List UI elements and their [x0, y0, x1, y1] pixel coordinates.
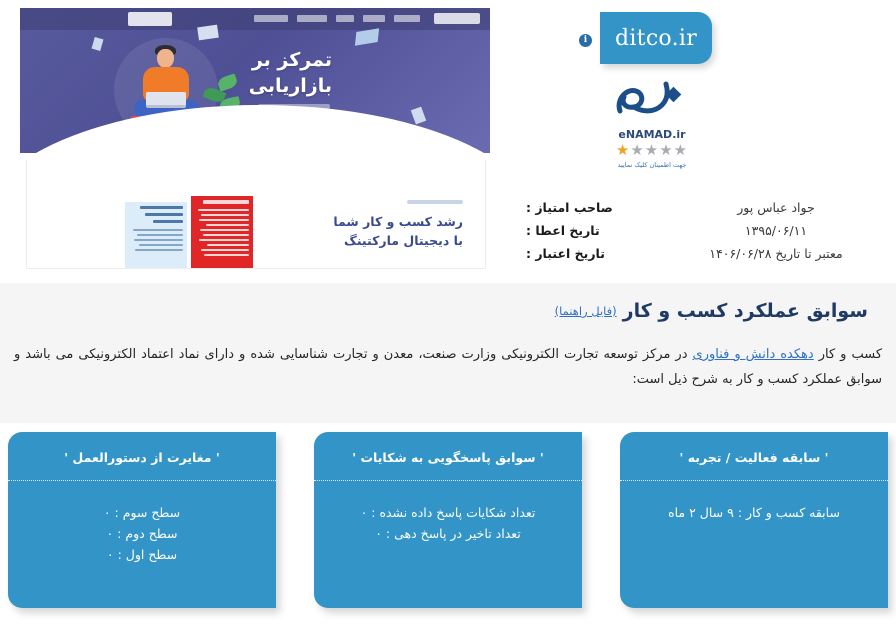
star-empty-icon: ★ [674, 141, 688, 159]
issue-date-label: تاریخ اعطا : [520, 223, 632, 238]
issue-date-value: ۱۳۹۵/۰۶/۱۱ [632, 223, 866, 238]
guide-file-link[interactable]: (فایل راهنما) [555, 304, 617, 318]
business-name-link[interactable]: دهکده دانش و فناوری [693, 347, 814, 362]
star-empty-icon: ★ [659, 141, 673, 159]
preview-lower-heading: رشد کسب و کار شما با دیجیتال مارکتینگ [333, 212, 463, 251]
owner-value: جواد عباس پور [632, 200, 866, 215]
enamad-star-rating: ★★★★★ [596, 143, 708, 158]
decor-paper-icon [411, 107, 426, 125]
enamad-hint-label: جهت اطمینان کلیک نمایید [596, 161, 708, 169]
preview-red-card [191, 196, 253, 268]
violation-level-1: سطح اول : ۰ [8, 544, 276, 565]
card-body: سطح سوم : ۰ سطح دوم : ۰ سطح اول : ۰ [8, 502, 276, 565]
license-info-table: جواد عباس پور صاحب امتیاز : ۱۳۹۵/۰۶/۱۱ ت… [520, 200, 866, 269]
website-preview-thumbnail[interactable]: تمرکز بر بازاریابی همین امروز مشاوره رای… [20, 8, 490, 273]
site-hero-cta-button: همین امروز مشاوره رایگان بگیرید [258, 118, 346, 135]
card-violations: ' مغایرت از دستورالعمل ' سطح سوم : ۰ سطح… [8, 432, 276, 608]
card-body: سابقه کسب و کار : ۹ سال ۲ ماه [620, 502, 888, 523]
unanswered-complaints: تعداد شکایات پاسخ داده نشده : ۰ [314, 502, 582, 523]
decor-paper-icon [355, 28, 379, 46]
page-title-text: سوابق عملکرد کسب و کار [623, 300, 868, 322]
info-icon[interactable]: i [579, 34, 592, 47]
card-body: تعداد شکایات پاسخ داده نشده : ۰ تعداد تا… [314, 502, 582, 544]
card-experience: ' سابقه فعالیت / تجربه ' سابقه کسب و کار… [620, 432, 888, 608]
page-title: سوابق عملکرد کسب و کار(فایل راهنما) [555, 300, 868, 322]
site-navbar [20, 8, 490, 30]
enamad-seal[interactable]: eNAMAD.ir ★★★★★ جهت اطمینان کلیک نمایید [596, 78, 708, 183]
site-lower-section: رشد کسب و کار شما با دیجیتال مارکتینگ [26, 160, 486, 269]
site-nav-links [254, 15, 420, 22]
info-row: معتبر تا تاریخ ۱۴۰۶/۰۶/۲۸ تاریخ اعتبار : [520, 246, 866, 269]
paragraph-part-1: کسب و کار [814, 347, 882, 362]
hero-title-line-1: تمرکز بر [249, 48, 332, 74]
site-nav-cta-button [128, 12, 172, 26]
star-empty-icon: ★ [645, 141, 659, 159]
card-complaints: ' سوابق پاسخگویی به شکایات ' تعداد شکایا… [314, 432, 582, 608]
decor-paper-icon [92, 37, 104, 51]
site-hero-section: تمرکز بر بازاریابی همین امروز مشاوره رای… [20, 8, 490, 153]
summary-cards-row: ' مغایرت از دستورالعمل ' سطح سوم : ۰ سطح… [8, 432, 888, 612]
decor-paper-icon [215, 131, 244, 152]
enamad-logo-icon [596, 78, 708, 126]
violation-level-3: سطح سوم : ۰ [8, 502, 276, 523]
star-filled-icon: ★ [616, 141, 630, 159]
site-logo [434, 13, 480, 24]
info-row: ۱۳۹۵/۰۶/۱۱ تاریخ اعطا : [520, 223, 866, 246]
owner-label: صاحب امتیاز : [520, 200, 632, 215]
card-divider [620, 480, 888, 481]
lower-heading-line-2: با دیجیتال مارکتینگ [333, 231, 463, 250]
delayed-responses: تعداد تاخیر در پاسخ دهی : ۰ [314, 523, 582, 544]
expiry-date-label: تاریخ اعتبار : [520, 246, 632, 261]
preview-kicker-line [407, 200, 463, 204]
hero-title-line-2: بازاریابی [249, 74, 332, 100]
violation-level-2: سطح دوم : ۰ [8, 523, 276, 544]
site-hero-title: تمرکز بر بازاریابی [249, 48, 332, 99]
card-title: ' سوابق پاسخگویی به شکایات ' [314, 432, 582, 465]
enamad-name-label: eNAMAD.ir [596, 128, 708, 141]
card-title: ' سابقه فعالیت / تجربه ' [620, 432, 888, 465]
expiry-date-value: معتبر تا تاریخ ۱۴۰۶/۰۶/۲۸ [632, 246, 866, 261]
domain-badge[interactable]: ditco.ir [600, 12, 712, 64]
plant-illustration-icon [202, 72, 242, 136]
star-empty-icon: ★ [630, 141, 644, 159]
info-row: جواد عباس پور صاحب امتیاز : [520, 200, 866, 223]
card-divider [8, 480, 276, 481]
card-divider [314, 480, 582, 481]
domain-badge-label: ditco.ir [615, 26, 697, 51]
description-paragraph: کسب و کار دهکده دانش و فناوری در مرکز تو… [14, 342, 882, 392]
preview-blue-card [125, 202, 187, 268]
site-hero-subtitle [258, 104, 330, 109]
business-age: سابقه کسب و کار : ۹ سال ۲ ماه [620, 502, 888, 523]
domain-badge-wrapper: i ditco.ir [600, 12, 712, 64]
lower-heading-line-1: رشد کسب و کار شما [333, 212, 463, 231]
card-title: ' مغایرت از دستورالعمل ' [8, 432, 276, 465]
